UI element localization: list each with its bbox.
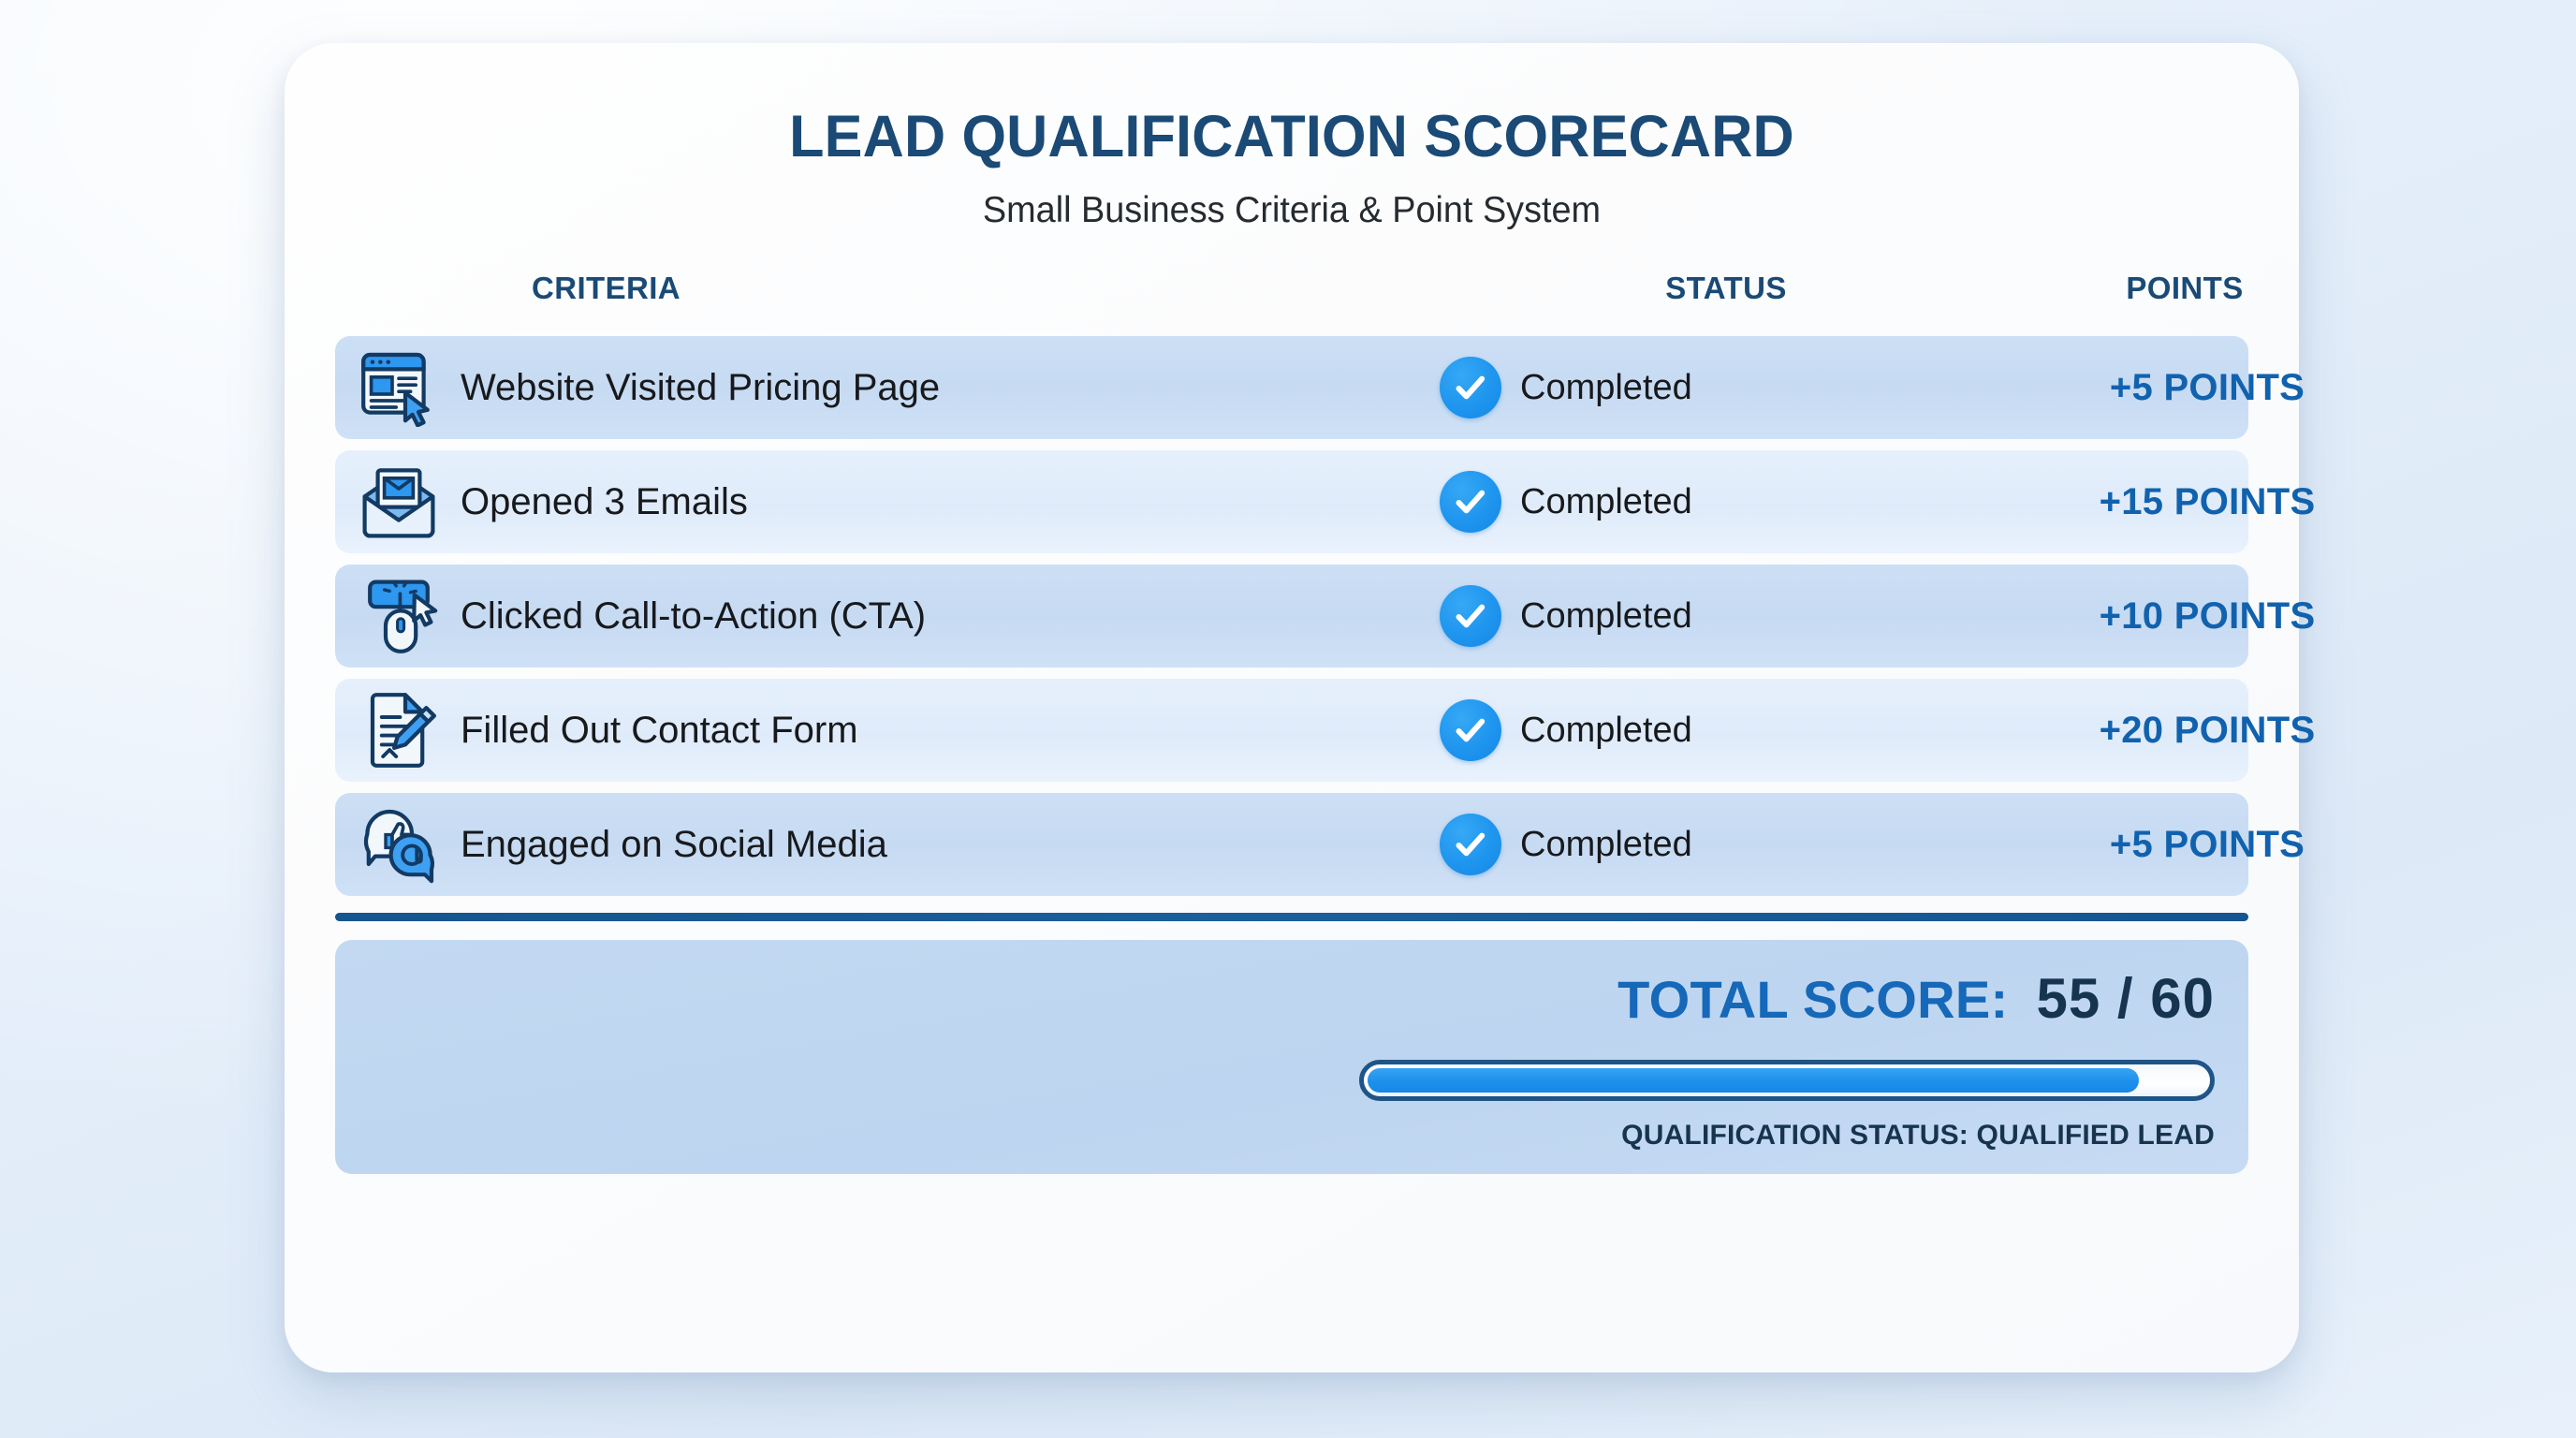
browser-pricing-page-icon xyxy=(350,345,447,431)
score-progress-fill xyxy=(1368,1068,2139,1093)
page-subtitle: Small Business Criteria & Point System xyxy=(315,190,2268,231)
section-divider xyxy=(335,913,2248,921)
total-score-value: 55 / 60 xyxy=(2037,966,2216,1031)
status-cell: Completed xyxy=(1440,565,1692,668)
status-label: Completed xyxy=(1520,711,1692,751)
table-row[interactable]: Opened 3 Emails Completed +15 POINTS xyxy=(335,450,2248,553)
criteria-label: Engaged on Social Media xyxy=(461,824,887,866)
total-score-panel: TOTAL SCORE: 55 / 60 QUALIFICATION STATU… xyxy=(335,940,2248,1174)
table-row[interactable]: Website Visited Pricing Page Completed +… xyxy=(335,336,2248,439)
check-icon xyxy=(1440,814,1501,875)
total-score-label: TOTAL SCORE: xyxy=(1617,969,2008,1030)
check-icon xyxy=(1440,471,1501,533)
points-value: +5 POINTS xyxy=(2011,793,2404,896)
criteria-label: Clicked Call-to-Action (CTA) xyxy=(461,595,926,638)
criteria-label: Opened 3 Emails xyxy=(461,481,748,523)
status-label: Completed xyxy=(1520,596,1692,637)
status-cell: Completed xyxy=(1440,336,1692,439)
check-icon xyxy=(1440,357,1501,418)
table-row[interactable]: Clicked Call-to-Action (CTA) Completed +… xyxy=(335,565,2248,668)
page-title: LEAD QUALIFICATION SCORECARD xyxy=(315,103,2268,170)
column-header-points: POINTS xyxy=(2021,271,2349,306)
status-cell: Completed xyxy=(1440,793,1692,896)
status-cell: Completed xyxy=(1440,679,1692,782)
table-row[interactable]: Engaged on Social Media Completed +5 POI… xyxy=(335,793,2248,896)
open-envelope-icon xyxy=(350,459,447,545)
check-icon xyxy=(1440,699,1501,761)
points-value: +15 POINTS xyxy=(2011,450,2404,553)
qualification-status-badge: QUALIFICATION STATUS: QUALIFIED LEAD xyxy=(1621,1120,2215,1152)
scorecard-card: LEAD QUALIFICATION SCORECARD Small Busin… xyxy=(285,43,2299,1372)
column-header-status: STATUS xyxy=(1586,271,1866,306)
column-header-criteria: CRITERIA xyxy=(532,271,681,306)
check-icon xyxy=(1440,585,1501,647)
column-header-row: CRITERIA STATUS POINTS xyxy=(285,271,2299,325)
social-bubbles-icon xyxy=(350,801,447,888)
points-value: +5 POINTS xyxy=(2011,336,2404,439)
score-progress-bar xyxy=(1359,1060,2215,1101)
criteria-label: Website Visited Pricing Page xyxy=(461,367,940,409)
total-score-line: TOTAL SCORE: 55 / 60 xyxy=(1617,966,2215,1031)
document-pencil-icon xyxy=(350,687,447,773)
status-label: Completed xyxy=(1520,368,1692,408)
points-value: +20 POINTS xyxy=(2011,679,2404,782)
status-label: Completed xyxy=(1520,825,1692,865)
status-cell: Completed xyxy=(1440,450,1692,553)
table-row[interactable]: Filled Out Contact Form Completed +20 PO… xyxy=(335,679,2248,782)
criteria-label: Filled Out Contact Form xyxy=(461,710,858,752)
criteria-list: Website Visited Pricing Page Completed +… xyxy=(285,336,2299,896)
points-value: +10 POINTS xyxy=(2011,565,2404,668)
status-label: Completed xyxy=(1520,482,1692,522)
cta-click-mouse-icon xyxy=(350,573,447,659)
